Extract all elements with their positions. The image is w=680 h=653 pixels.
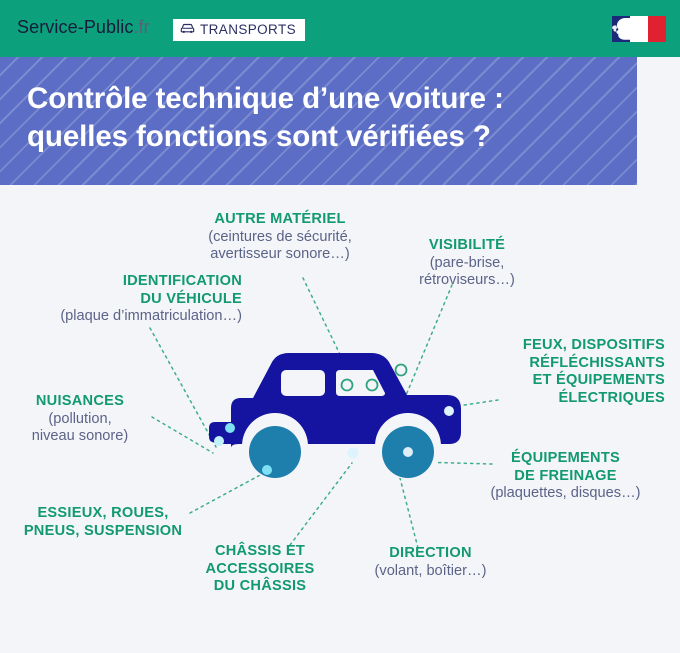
label-essieux[interactable]: ESSIEUX, ROUES,PNEUS, SUSPENSION xyxy=(8,505,198,540)
label-nuisances-title: NUISANCES xyxy=(10,393,150,411)
rear-wheel-marker xyxy=(262,465,272,475)
label-identification-sub: (plaque d’immatriculation…) xyxy=(0,308,242,326)
label-identification[interactable]: IDENTIFICATIONDU VÉHICULE (plaque d’imma… xyxy=(0,273,242,326)
page-title-line2: quelles fonctions sont vérifiées ? xyxy=(27,120,491,153)
car-rear-window xyxy=(281,370,325,396)
label-autre-materiel-title: AUTRE MATÉRIEL xyxy=(180,211,380,229)
french-flag-icon xyxy=(612,16,666,42)
front-wheel-hub-marker xyxy=(403,447,413,457)
label-chassis[interactable]: CHÂSSIS ETACCESSOIRESDU CHÂSSIS xyxy=(185,543,335,596)
flag-red-band xyxy=(648,16,666,42)
label-freinage[interactable]: ÉQUIPEMENTSDE FREINAGE (plaquettes, disq… xyxy=(458,450,673,503)
transports-badge-label: TRANSPORTS xyxy=(200,23,296,37)
flag-white-band xyxy=(630,16,648,42)
label-direction[interactable]: DIRECTION (volant, boîtier…) xyxy=(348,545,513,580)
logo-main-text: Service-Public xyxy=(17,17,133,37)
label-identification-title: IDENTIFICATIONDU VÉHICULE xyxy=(0,273,242,308)
rear-wheel xyxy=(249,426,301,478)
label-visibilite-title: VISIBILITÉ xyxy=(392,237,542,255)
label-visibilite[interactable]: VISIBILITÉ (pare-brise,rétroviseurs…) xyxy=(392,237,542,290)
windshield-ring xyxy=(396,365,407,376)
site-logo[interactable]: Service-Public.fr xyxy=(17,17,150,38)
label-chassis-title: CHÂSSIS ETACCESSOIRESDU CHÂSSIS xyxy=(185,543,335,596)
car-icon xyxy=(180,22,195,38)
logo-suffix-text: .fr xyxy=(133,17,149,37)
title-banner: Contrôle technique d’une voiture :quelle… xyxy=(0,57,637,185)
label-direction-title: DIRECTION xyxy=(348,545,513,563)
front-light-marker xyxy=(444,406,454,416)
label-freinage-sub: (plaquettes, disques…) xyxy=(458,485,673,503)
transports-badge[interactable]: TRANSPORTS xyxy=(173,19,305,41)
label-autre-materiel[interactable]: AUTRE MATÉRIEL (ceintures de sécurité,av… xyxy=(180,211,380,264)
page-title-line1: Contrôle technique d’une voiture : xyxy=(27,82,504,115)
label-direction-sub: (volant, boîtier…) xyxy=(348,563,513,581)
label-feux-title: FEUX, DISPOSITIFSRÉFLÉCHISSANTSET ÉQUIPE… xyxy=(430,337,665,407)
label-freinage-title: ÉQUIPEMENTSDE FREINAGE xyxy=(458,450,673,485)
label-autre-materiel-sub: (ceintures de sécurité,avertisseur sonor… xyxy=(180,229,380,265)
underbody-marker xyxy=(348,448,359,459)
label-nuisances[interactable]: NUISANCES (pollution,niveau sonore) xyxy=(10,393,150,446)
label-essieux-title: ESSIEUX, ROUES,PNEUS, SUSPENSION xyxy=(8,505,198,540)
rear-bumper-marker xyxy=(214,436,224,446)
page-title: Contrôle technique d’une voiture :quelle… xyxy=(27,80,504,157)
label-feux[interactable]: FEUX, DISPOSITIFSRÉFLÉCHISSANTSET ÉQUIPE… xyxy=(430,337,665,407)
infographic-stage: IDENTIFICATIONDU VÉHICULE (plaque d’imma… xyxy=(0,185,680,653)
rear-plate-marker xyxy=(225,423,235,433)
marianne-profile-icon xyxy=(612,17,631,41)
site-header: Service-Public.fr TRANSPORTS xyxy=(0,0,680,57)
label-nuisances-sub: (pollution,niveau sonore) xyxy=(10,411,150,447)
label-visibilite-sub: (pare-brise,rétroviseurs…) xyxy=(392,255,542,291)
